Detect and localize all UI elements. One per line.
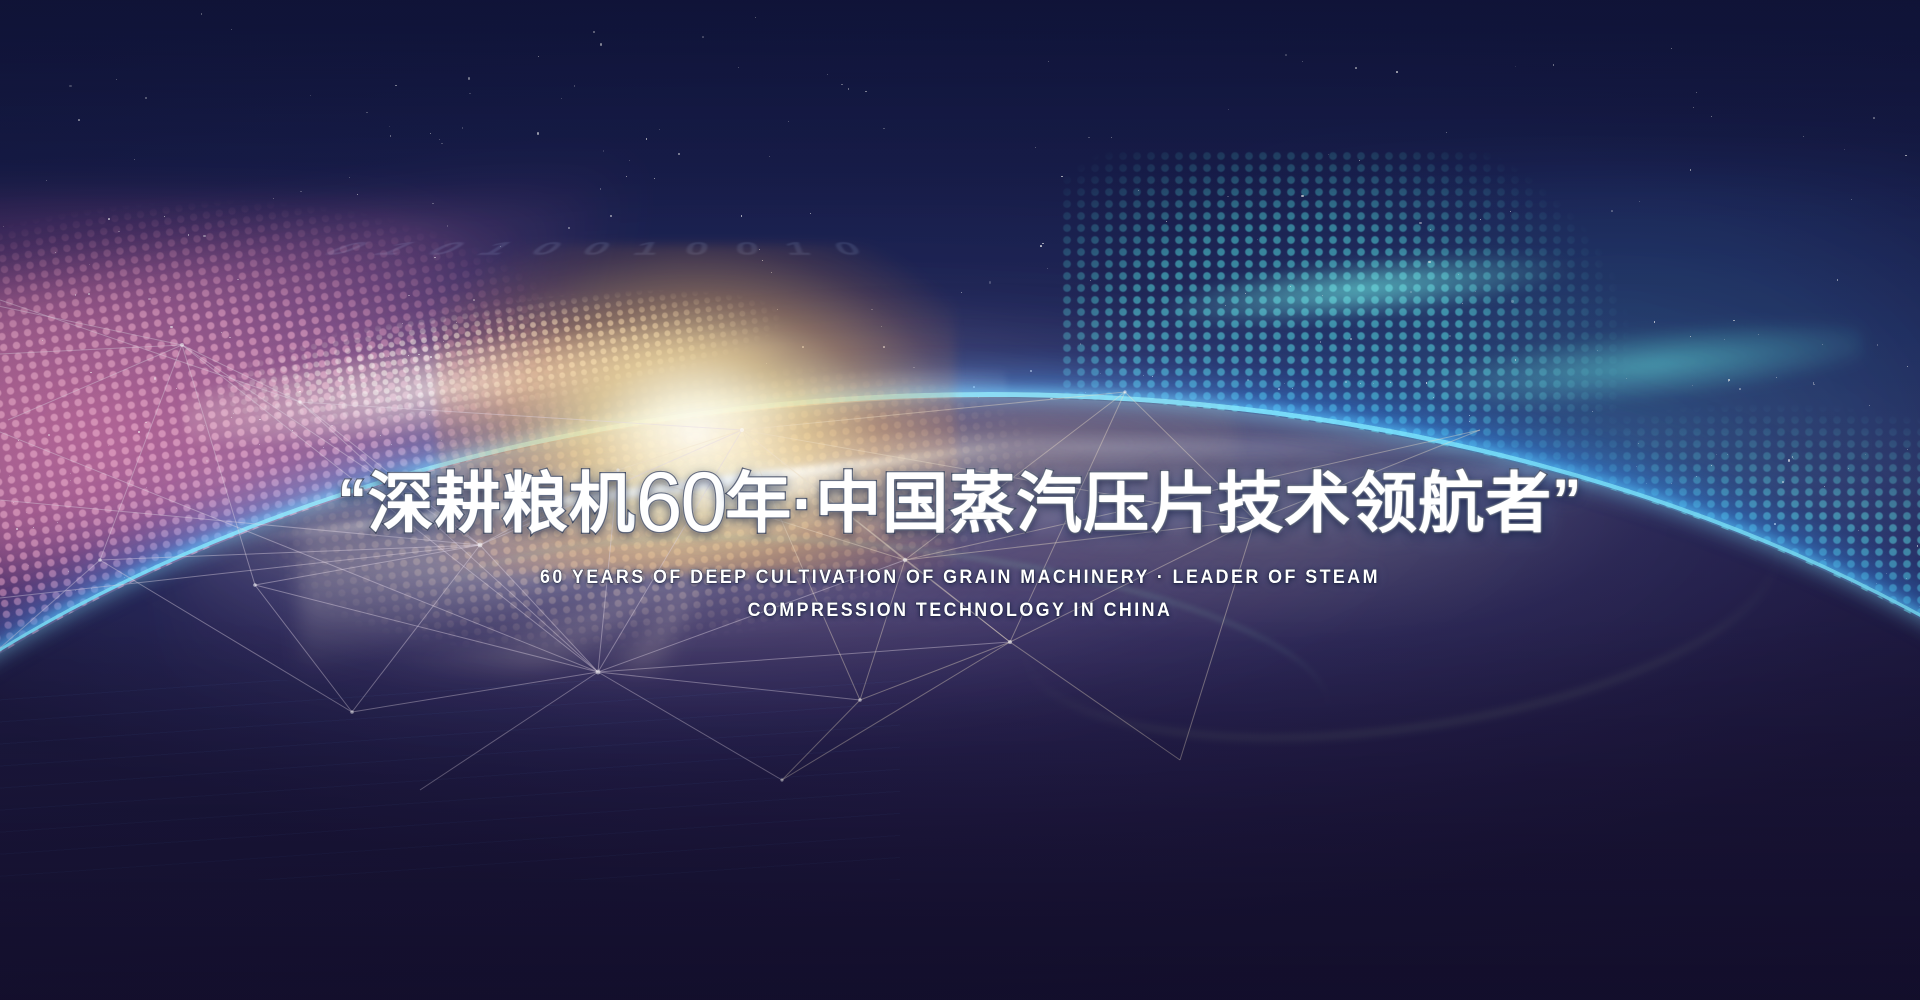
headline-part-2: 年·中国蒸汽压片技术领航者 bbox=[725, 466, 1552, 540]
headline-open-quote: “ bbox=[338, 468, 368, 533]
headline-close-quote: ” bbox=[1552, 468, 1582, 533]
hero-banner: 0 1 0 1 0 0 1 0 0 1 0 bbox=[0, 0, 1920, 1000]
headline-part-1: 深耕粮机 bbox=[368, 466, 636, 540]
headline: “深耕粮机60年·中国蒸汽压片技术领航者” bbox=[0, 460, 1920, 544]
hero-copy-block: “深耕粮机60年·中国蒸汽压片技术领航者” 60 YEARS OF DEEP C… bbox=[0, 460, 1920, 627]
subtitle-line-2: COMPRESSION TECHNOLOGY IN CHINA bbox=[58, 595, 1863, 628]
headline-number: 60 bbox=[636, 455, 725, 549]
subtitle: 60 YEARS OF DEEP CULTIVATION OF GRAIN MA… bbox=[58, 562, 1863, 627]
subtitle-line-1: 60 YEARS OF DEEP CULTIVATION OF GRAIN MA… bbox=[58, 562, 1863, 595]
